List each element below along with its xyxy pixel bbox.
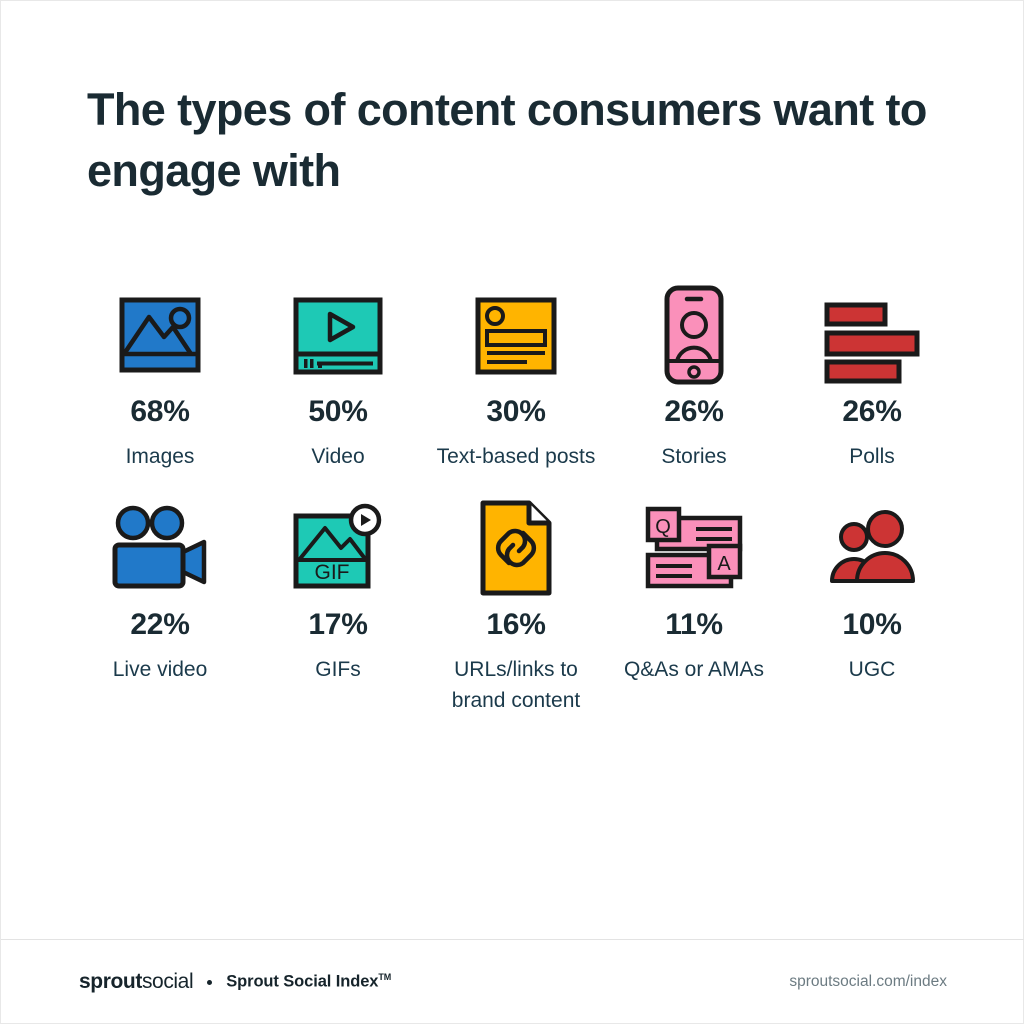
gif-icon: GIF xyxy=(292,503,384,593)
stat-cell-urls-links: 16% URLs/links to brand content xyxy=(427,494,605,716)
stat-percent: 30% xyxy=(486,397,545,427)
stat-label: URLs/links to brand content xyxy=(431,654,601,716)
story-phone-icon xyxy=(663,285,725,385)
stat-label: Text-based posts xyxy=(437,441,596,472)
people-group-icon xyxy=(826,511,918,585)
stat-label: Video xyxy=(311,441,364,472)
poll-bars-icon xyxy=(822,294,922,376)
icon-slot xyxy=(293,281,383,389)
stat-label: Images xyxy=(126,441,195,472)
icon-slot xyxy=(826,494,918,602)
icon-slot xyxy=(475,281,557,389)
stat-label: UGC xyxy=(849,654,896,685)
stat-cell-polls: 26% Polls xyxy=(783,281,961,472)
logo-light-text: social xyxy=(142,970,193,993)
movie-camera-icon xyxy=(109,505,211,591)
stat-label: Polls xyxy=(849,441,895,472)
stat-percent: 50% xyxy=(308,397,367,427)
stat-percent: 11% xyxy=(665,610,723,640)
logo-bold-text: sprout xyxy=(79,970,142,993)
stat-label: Live video xyxy=(113,654,208,685)
icon-slot xyxy=(822,281,922,389)
stat-percent: 10% xyxy=(842,610,901,640)
sprout-social-logo: sproutsocial xyxy=(79,970,193,994)
stat-percent: 68% xyxy=(130,397,189,427)
stats-row: 22% Live video GIF 17% GIFs xyxy=(71,494,961,716)
stats-grid: 68% Images 50% Video xyxy=(71,281,961,716)
infographic-canvas: The types of content consumers want to e… xyxy=(0,0,1024,1024)
separator-dot-icon xyxy=(207,980,212,985)
image-icon xyxy=(119,294,201,376)
stat-cell-qa-amas: Q A 11% Q&As or AMAs xyxy=(605,494,783,716)
stat-percent: 26% xyxy=(664,397,723,427)
footer-url[interactable]: sproutsocial.com/index xyxy=(789,973,947,991)
stat-percent: 16% xyxy=(486,610,545,640)
qa-messages-icon: Q A xyxy=(644,505,744,591)
icon-slot xyxy=(663,281,725,389)
icon-slot: Q A xyxy=(644,494,744,602)
stat-percent: 26% xyxy=(842,397,901,427)
stat-cell-text-based-posts: 30% Text-based posts xyxy=(427,281,605,472)
video-player-icon xyxy=(293,294,383,376)
icon-slot xyxy=(479,494,553,602)
svg-text:GIF: GIF xyxy=(315,561,350,584)
svg-text:Q: Q xyxy=(655,516,671,538)
stat-cell-video: 50% Video xyxy=(249,281,427,472)
stat-cell-ugc: 10% UGC xyxy=(783,494,961,716)
page-title: The types of content consumers want to e… xyxy=(87,79,927,201)
stat-label: Stories xyxy=(661,441,726,472)
footer: sproutsocial Sprout Social IndexTM sprou… xyxy=(1,940,1024,1024)
stats-row: 68% Images 50% Video xyxy=(71,281,961,472)
stat-cell-images: 68% Images xyxy=(71,281,249,472)
svg-text:A: A xyxy=(717,553,731,575)
icon-slot xyxy=(109,494,211,602)
stat-cell-gifs: GIF 17% GIFs xyxy=(249,494,427,716)
stat-percent: 22% xyxy=(130,610,189,640)
trademark-symbol: TM xyxy=(378,972,391,982)
text-post-icon xyxy=(475,294,557,376)
stat-cell-live-video: 22% Live video xyxy=(71,494,249,716)
stat-percent: 17% xyxy=(308,610,367,640)
stat-label: GIFs xyxy=(315,654,361,685)
index-name-text: Sprout Social Index xyxy=(226,973,378,991)
stat-label: Q&As or AMAs xyxy=(624,654,764,685)
index-name: Sprout Social IndexTM xyxy=(226,972,391,992)
icon-slot: GIF xyxy=(292,494,384,602)
footer-brand: sproutsocial Sprout Social IndexTM xyxy=(79,970,391,994)
icon-slot xyxy=(119,281,201,389)
stat-cell-stories: 26% Stories xyxy=(605,281,783,472)
link-document-icon xyxy=(479,500,553,596)
